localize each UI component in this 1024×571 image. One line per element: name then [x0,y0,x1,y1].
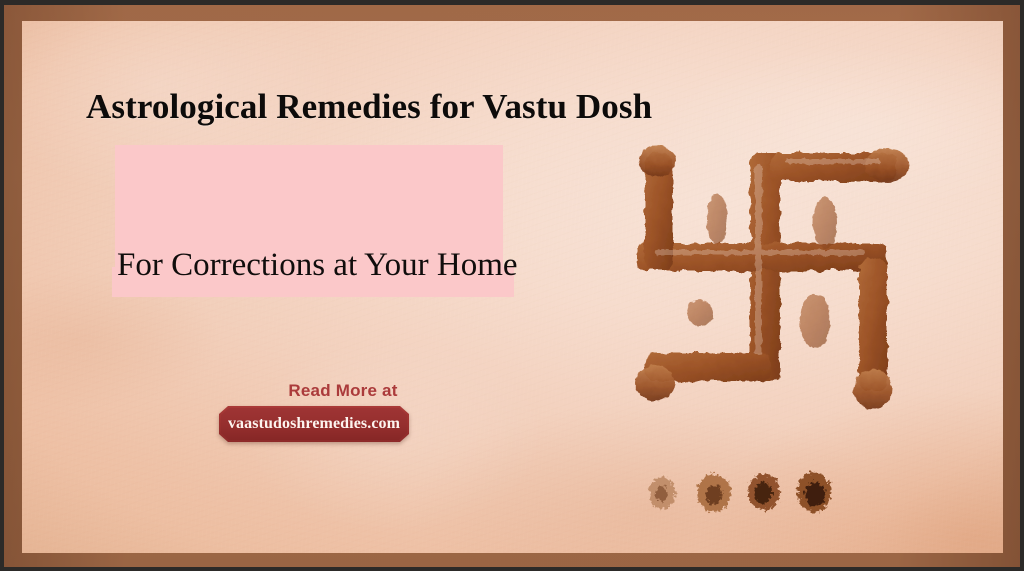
read-more-label: Read More at [254,381,432,401]
finger-dot-marks [632,461,852,521]
banner-image: Astrological Remedies for Vastu Dosh For… [0,0,1024,571]
subheadline-text: For Corrections at Your Home [117,249,518,282]
headline-text: Astrological Remedies for Vastu Dosh [86,89,652,124]
photo-plate: Astrological Remedies for Vastu Dosh For… [22,21,1003,553]
swastika-icon [615,131,925,431]
website-url-text: vaastudoshremedies.com [219,406,409,442]
website-ribbon[interactable]: vaastudoshremedies.com [219,406,409,442]
